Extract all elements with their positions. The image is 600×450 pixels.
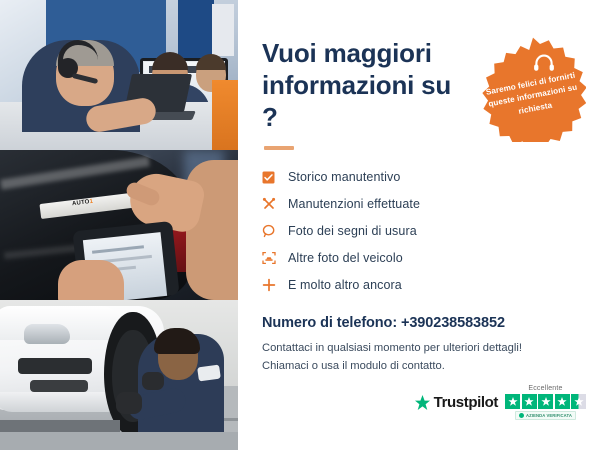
contact-line-2: Chiamaci o usa il modulo di contatto. (262, 358, 574, 375)
speech-bubble-icon (262, 224, 288, 238)
verified-badge: AZIENDA VERIFICATA (515, 411, 576, 420)
verified-label: AZIENDA VERIFICATA (526, 413, 572, 418)
list-item: Manutenzioni effettuate (262, 191, 574, 218)
rating-label: Eccellente (528, 385, 562, 392)
list-item-label: Storico manutentivo (288, 170, 400, 184)
content-panel: Vuoi maggiori informazioni su ? Storico … (238, 0, 600, 450)
page-title: Vuoi maggiori informazioni su ? (262, 38, 472, 134)
list-item: Altre foto del veicolo (262, 245, 574, 272)
tools-wrench-icon (262, 197, 288, 211)
status-badge: Saremo felici di fornirti queste informa… (480, 36, 586, 142)
star-icon (505, 394, 520, 409)
call-center-agents-photo (0, 0, 238, 150)
star-icon (522, 394, 537, 409)
trustpilot-star-icon (414, 395, 431, 411)
checkbox-checked-icon (262, 171, 288, 184)
verified-check-icon (519, 413, 524, 418)
list-item-label: Foto dei segni di usura (288, 224, 417, 238)
photo-column: AUTO1 (0, 0, 238, 450)
star-half-icon (571, 394, 586, 409)
promo-banner: AUTO1 Vuoi maggiori informazioni su ? (0, 0, 600, 450)
trustpilot-wordmark: Trustpilot (434, 394, 498, 411)
star-icon (555, 394, 570, 409)
feature-list: Storico manutentivo Manutenzioni effettu… (262, 164, 574, 299)
trustpilot-logo: Trustpilot (414, 394, 498, 411)
list-item-label: Manutenzioni effettuate (288, 197, 420, 211)
trustpilot-rating[interactable]: Trustpilot Eccellente AZIENDA VERIFICATA (414, 385, 586, 420)
list-item-label: Altre foto del veicolo (288, 251, 403, 265)
list-item-label: E molto altro ancora (288, 278, 402, 292)
list-item: Storico manutentivo (262, 164, 574, 191)
plus-icon (262, 278, 288, 292)
mechanic-garage-photo (0, 300, 238, 450)
vehicle-inspection-photo: AUTO1 (0, 150, 238, 300)
star-icon (538, 394, 553, 409)
contact-line-1: Contattaci in qualsiasi momento per ulte… (262, 340, 574, 357)
title-divider (264, 146, 294, 150)
trustpilot-score: Eccellente AZIENDA VERIFICATA (505, 385, 586, 420)
list-item: Foto dei segni di usura (262, 218, 574, 245)
list-item: E molto altro ancora (262, 272, 574, 299)
car-frame-icon (262, 251, 288, 265)
star-rating (505, 394, 586, 409)
phone-number[interactable]: Numero di telefono: +390238583852 (262, 315, 574, 331)
